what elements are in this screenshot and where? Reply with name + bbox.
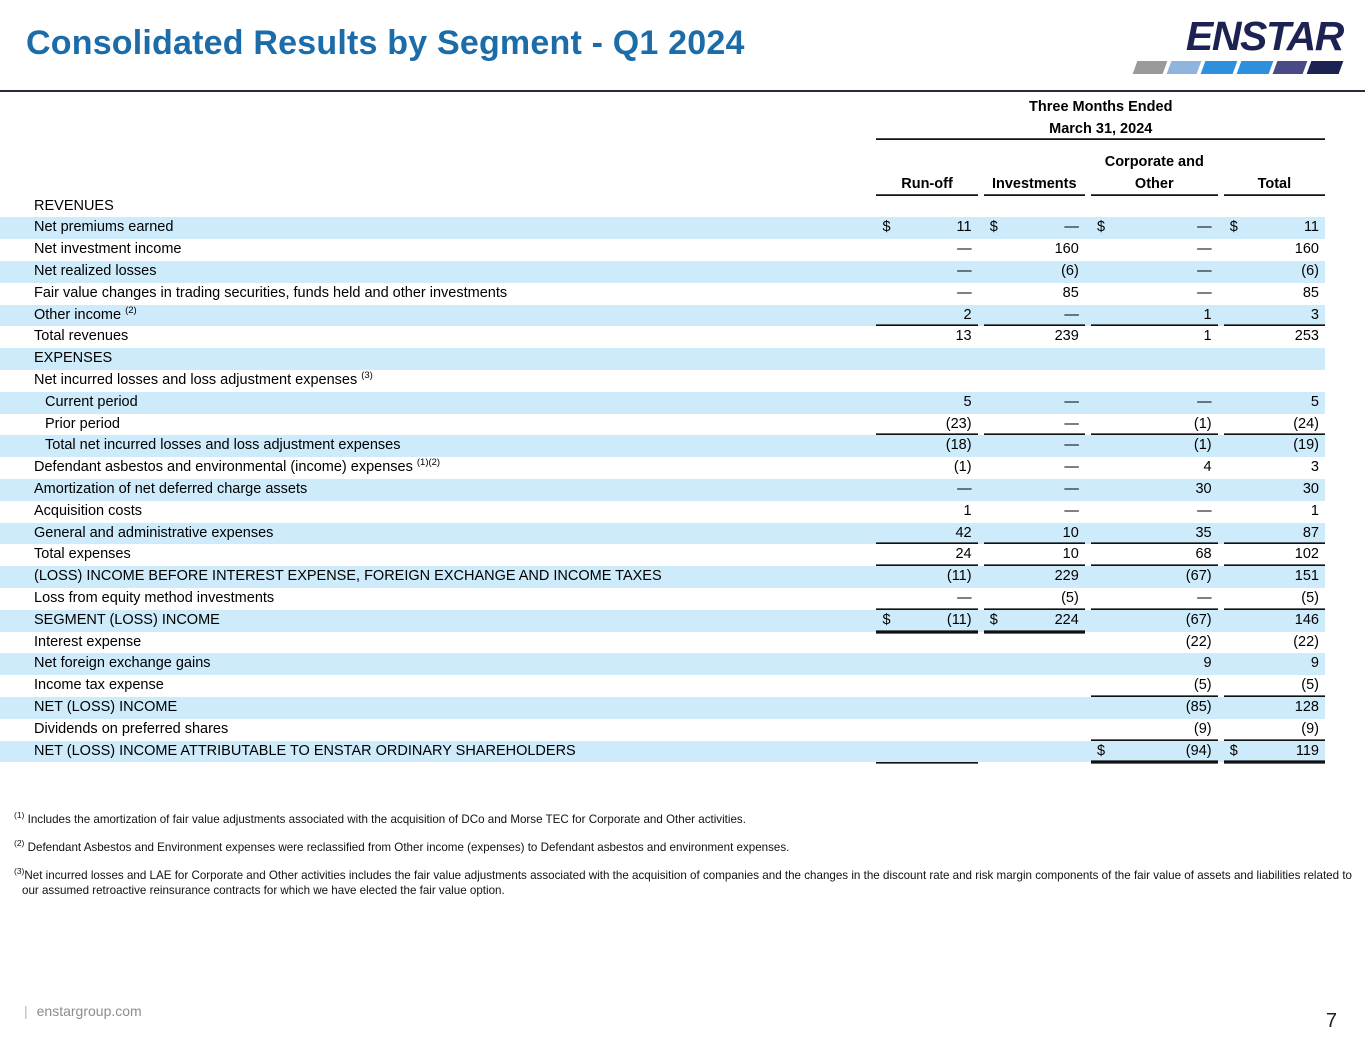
segment-results-table: Three Months Ended March 31, 2024 Corpor…	[0, 96, 1325, 766]
footer-site: |enstargroup.com	[24, 1003, 142, 1019]
footnote-2-marker: (2)	[14, 838, 24, 848]
footnote-marker: (2)	[125, 305, 137, 316]
column-header-row: Run-off Investments Other Total	[0, 174, 1325, 196]
cell-corporate: —	[1109, 283, 1217, 305]
cell-total: (19)	[1242, 435, 1325, 457]
cell-runoff: (1)	[895, 457, 978, 479]
footnote-1-marker: (1)	[14, 810, 24, 820]
table-row: NET (LOSS) INCOME ATTRIBUTABLE TO ENSTAR…	[0, 741, 1325, 763]
table-row: Income tax expense (5) (5)	[0, 675, 1325, 697]
row-label: Net realized losses	[0, 261, 876, 283]
cell-investments: —	[1002, 392, 1085, 414]
row-label: Prior period	[0, 414, 876, 436]
logo-wordmark: ENSTAR	[1133, 14, 1343, 58]
cell-total: 1	[1242, 501, 1325, 523]
row-label: Income tax expense	[0, 675, 876, 697]
cell-runoff: —	[895, 239, 978, 261]
row-label: Net incurred losses and loss adjustment …	[0, 370, 876, 392]
footnote-marker: (1)(2)	[417, 457, 440, 468]
cell-investments: 239	[1002, 326, 1085, 348]
cell-corporate: (1)	[1109, 414, 1217, 436]
logo-accent-bars	[1133, 61, 1343, 77]
cell-total: 119	[1242, 741, 1325, 763]
column-header-upper-row: Corporate and	[0, 152, 1325, 174]
table-row: Net investment income — 160 — 160	[0, 239, 1325, 261]
cell-investments: —	[1002, 457, 1085, 479]
cell-investments: —	[1002, 479, 1085, 501]
table-row: Total net incurred losses and loss adjus…	[0, 435, 1325, 457]
cell-runoff: (11)	[895, 610, 978, 632]
currency-symbol: $	[876, 217, 894, 239]
row-label: Current period	[0, 392, 876, 414]
row-label: Interest expense	[0, 632, 876, 654]
footnote-1-text: Includes the amortization of fair value …	[28, 813, 746, 826]
table-row: Net premiums earned $ 11 $ — $ — $ 11	[0, 217, 1325, 239]
currency-symbol: $	[1091, 741, 1109, 763]
financial-table-wrapper: Three Months Ended March 31, 2024 Corpor…	[0, 96, 1365, 766]
row-label: Total net incurred losses and loss adjus…	[0, 435, 876, 457]
row-label: SEGMENT (LOSS) INCOME	[0, 610, 876, 632]
table-row: EXPENSES	[0, 348, 1325, 370]
footer-divider-icon: |	[24, 1003, 28, 1019]
footnotes: (1) Includes the amortization of fair va…	[14, 808, 1354, 907]
cell-investments: (5)	[1002, 588, 1085, 610]
row-label: Acquisition costs	[0, 501, 876, 523]
table-row: Fair value changes in trading securities…	[0, 283, 1325, 305]
cell-total: 30	[1242, 479, 1325, 501]
cell-total: 253	[1242, 326, 1325, 348]
cell-corporate: (22)	[1109, 632, 1217, 654]
cell-corporate: 35	[1109, 523, 1217, 545]
footnote-2-text: Defendant Asbestos and Environment expen…	[28, 841, 790, 854]
cell-runoff: (18)	[895, 435, 978, 457]
cell-total: 11	[1242, 217, 1325, 239]
page-number: 7	[1326, 1010, 1337, 1033]
header-gap-row	[0, 140, 1325, 152]
table-row: Other income (2) 2 — 1 3	[0, 305, 1325, 327]
currency-symbol: $	[1224, 741, 1242, 763]
cell-runoff: 42	[895, 523, 978, 545]
row-label: Total expenses	[0, 544, 876, 566]
cell-corporate: —	[1109, 239, 1217, 261]
currency-symbol: $	[984, 610, 1002, 632]
row-label: Defendant asbestos and environmental (in…	[0, 457, 876, 479]
table-row: Prior period (23) — (1) (24)	[0, 414, 1325, 436]
cell-runoff: (23)	[895, 414, 978, 436]
cell-runoff: 11	[895, 217, 978, 239]
cell-total: (22)	[1242, 632, 1325, 654]
cell-corporate: (67)	[1109, 610, 1217, 632]
cell-corporate: 1	[1109, 305, 1217, 327]
enstar-logo: ENSTAR	[1133, 14, 1343, 82]
currency-symbol: $	[984, 217, 1002, 239]
row-label: Amortization of net deferred charge asse…	[0, 479, 876, 501]
period-header-row: Three Months Ended	[0, 96, 1325, 118]
table-row: SEGMENT (LOSS) INCOME $ (11) $ 224 (67) …	[0, 610, 1325, 632]
cell-runoff: 24	[895, 544, 978, 566]
row-label: Total revenues	[0, 326, 876, 348]
footnote-3: (3)Net incurred losses and LAE for Corpo…	[14, 864, 1352, 898]
row-label: Net foreign exchange gains	[0, 653, 876, 675]
cell-investments: —	[1002, 217, 1085, 239]
col-header-total: Total	[1224, 174, 1325, 196]
cell-corporate: (85)	[1109, 697, 1217, 719]
table-row: Interest expense (22) (22)	[0, 632, 1325, 654]
table-row: REVENUES	[0, 196, 1325, 218]
cell-total: 151	[1242, 566, 1325, 588]
cell-runoff: 13	[895, 326, 978, 348]
table-row: Acquisition costs 1 — — 1	[0, 501, 1325, 523]
cell-corporate: 1	[1109, 326, 1217, 348]
cell-corporate: 30	[1109, 479, 1217, 501]
footnote-marker: (3)	[361, 370, 373, 381]
row-label: Loss from equity method investments	[0, 588, 876, 610]
cell-corporate: —	[1109, 501, 1217, 523]
cell-investments: 229	[1002, 566, 1085, 588]
row-label: NET (LOSS) INCOME ATTRIBUTABLE TO ENSTAR…	[0, 741, 876, 763]
currency-symbol: $	[1091, 217, 1109, 239]
cell-runoff: —	[895, 588, 978, 610]
footnote-3-marker: (3)	[14, 866, 24, 876]
header-divider	[0, 90, 1365, 92]
cell-total: (9)	[1242, 719, 1325, 741]
cell-total: 102	[1242, 544, 1325, 566]
cell-corporate: (94)	[1109, 741, 1217, 763]
cell-total: 9	[1242, 653, 1325, 675]
period-date-row: March 31, 2024	[0, 118, 1325, 140]
table-row: Total revenues 13 239 1 253	[0, 326, 1325, 348]
row-label: General and administrative expenses	[0, 523, 876, 545]
cell-corporate: (5)	[1109, 675, 1217, 697]
cell-corporate: (9)	[1109, 719, 1217, 741]
cell-investments: (6)	[1002, 261, 1085, 283]
cell-corporate: —	[1109, 588, 1217, 610]
cell-total: 128	[1242, 697, 1325, 719]
row-label: (LOSS) INCOME BEFORE INTEREST EXPENSE, F…	[0, 566, 876, 588]
table-row: Defendant asbestos and environmental (in…	[0, 457, 1325, 479]
closing-rule-row	[0, 762, 1325, 766]
cell-corporate: —	[1109, 392, 1217, 414]
cell-runoff: —	[895, 283, 978, 305]
cell-corporate: 4	[1109, 457, 1217, 479]
period-label-line2: March 31, 2024	[876, 118, 1325, 140]
row-label: REVENUES	[0, 196, 876, 218]
cell-investments: 85	[1002, 283, 1085, 305]
cell-runoff: 2	[895, 305, 978, 327]
row-label: Fair value changes in trading securities…	[0, 283, 876, 305]
cell-total: (24)	[1242, 414, 1325, 436]
period-label-line1: Three Months Ended	[876, 96, 1325, 118]
cell-total: (5)	[1242, 675, 1325, 697]
cell-corporate: (67)	[1109, 566, 1217, 588]
table-row: Loss from equity method investments — (5…	[0, 588, 1325, 610]
page-title: Consolidated Results by Segment - Q1 202…	[26, 24, 745, 63]
cell-total: 87	[1242, 523, 1325, 545]
table-row: Dividends on preferred shares (9) (9)	[0, 719, 1325, 741]
cell-investments: 224	[1002, 610, 1085, 632]
cell-investments: —	[1002, 435, 1085, 457]
table-row: Current period 5 — — 5	[0, 392, 1325, 414]
cell-investments: —	[1002, 305, 1085, 327]
table-row: Amortization of net deferred charge asse…	[0, 479, 1325, 501]
table-row: Total expenses 24 10 68 102	[0, 544, 1325, 566]
row-label: Other income (2)	[0, 305, 876, 327]
table-row: Net foreign exchange gains 9 9	[0, 653, 1325, 675]
table-row: General and administrative expenses 42 1…	[0, 523, 1325, 545]
cell-total: (6)	[1242, 261, 1325, 283]
cell-corporate: 68	[1109, 544, 1217, 566]
cell-investments: 10	[1002, 523, 1085, 545]
row-label: Dividends on preferred shares	[0, 719, 876, 741]
cell-runoff: —	[895, 261, 978, 283]
table-row: (LOSS) INCOME BEFORE INTEREST EXPENSE, F…	[0, 566, 1325, 588]
cell-total: (5)	[1242, 588, 1325, 610]
cell-investments: —	[1002, 414, 1085, 436]
cell-corporate: —	[1109, 217, 1217, 239]
cell-total: 5	[1242, 392, 1325, 414]
footnote-1: (1) Includes the amortization of fair va…	[14, 808, 1354, 827]
table-row: Net realized losses — (6) — (6)	[0, 261, 1325, 283]
cell-corporate: (1)	[1109, 435, 1217, 457]
col-header-runoff: Run-off	[876, 174, 977, 196]
cell-corporate: —	[1109, 261, 1217, 283]
col-header-investments: Investments	[984, 174, 1085, 196]
currency-symbol: $	[1224, 217, 1242, 239]
cell-total: 146	[1242, 610, 1325, 632]
row-label: Net investment income	[0, 239, 876, 261]
footnote-3-text: Net incurred losses and LAE for Corporat…	[22, 869, 1352, 897]
cell-investments: 160	[1002, 239, 1085, 261]
row-label: NET (LOSS) INCOME	[0, 697, 876, 719]
col-header-corporate-line1: Corporate and	[1091, 152, 1218, 174]
table-row: NET (LOSS) INCOME (85) 128	[0, 697, 1325, 719]
row-label: EXPENSES	[0, 348, 876, 370]
cell-total: 3	[1242, 457, 1325, 479]
table-row: Net incurred losses and loss adjustment …	[0, 370, 1325, 392]
cell-corporate: 9	[1109, 653, 1217, 675]
row-label: Net premiums earned	[0, 217, 876, 239]
cell-runoff: (11)	[895, 566, 978, 588]
currency-symbol: $	[876, 610, 894, 632]
cell-total: 85	[1242, 283, 1325, 305]
cell-investments: —	[1002, 501, 1085, 523]
cell-runoff: —	[895, 479, 978, 501]
footnote-2: (2) Defendant Asbestos and Environment e…	[14, 836, 1354, 855]
cell-total: 3	[1242, 305, 1325, 327]
cell-investments: 10	[1002, 544, 1085, 566]
cell-runoff: 1	[895, 501, 978, 523]
cell-runoff: 5	[895, 392, 978, 414]
footer-site-label: enstargroup.com	[37, 1003, 142, 1019]
col-header-corporate-line2: Other	[1091, 174, 1218, 196]
cell-total: 160	[1242, 239, 1325, 261]
